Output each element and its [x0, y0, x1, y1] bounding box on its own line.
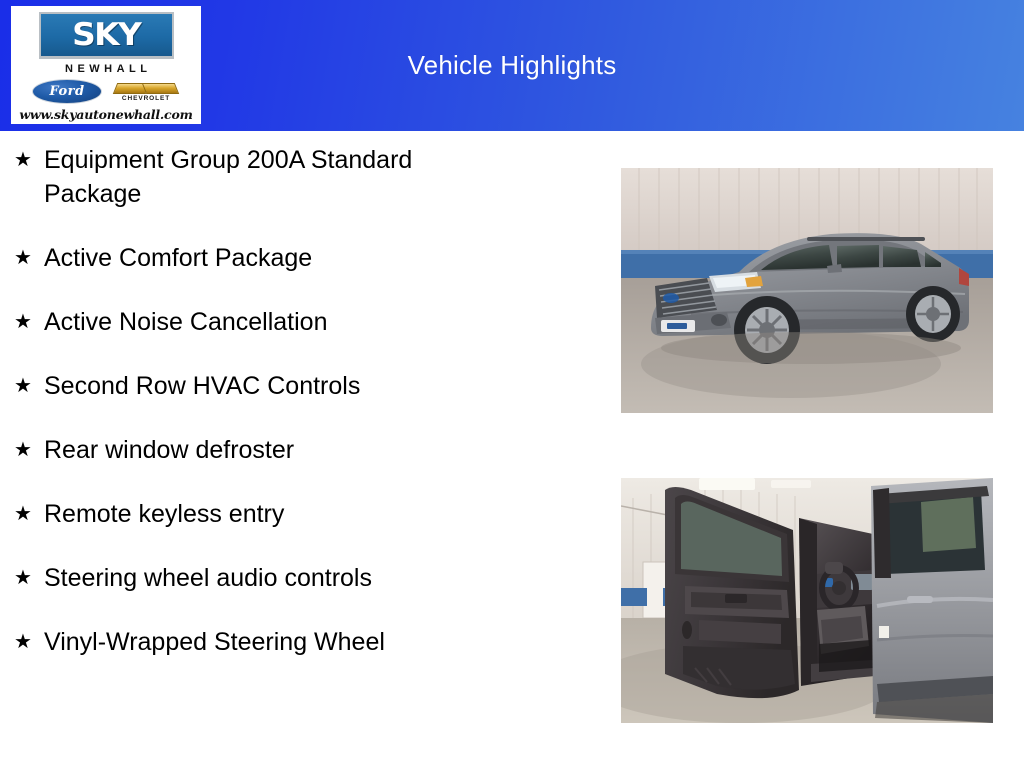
ford-logo-text: Ford — [49, 85, 84, 98]
list-item: ★ Active Noise Cancellation — [0, 305, 600, 339]
dealer-logo[interactable]: SKY NEWHALL Ford CHEVROLET www.skyautone… — [11, 6, 201, 124]
ford-logo-icon: Ford — [32, 79, 102, 104]
star-icon: ★ — [14, 561, 44, 595]
vehicle-exterior-photo[interactable] — [621, 168, 993, 413]
list-item: ★ Vinyl-Wrapped Steering Wheel — [0, 625, 600, 659]
dealer-location-text: NEWHALL — [61, 63, 152, 75]
list-item-label: Active Noise Cancellation — [44, 305, 504, 339]
vehicle-interior-illustration — [621, 478, 993, 723]
vehicle-interior-photo[interactable] — [621, 478, 993, 723]
list-item-label: Remote keyless entry — [44, 497, 504, 531]
list-item-label: Vinyl-Wrapped Steering Wheel — [44, 625, 504, 659]
list-item: ★ Rear window defroster — [0, 433, 600, 467]
star-icon: ★ — [14, 433, 44, 467]
list-item: ★ Steering wheel audio controls — [0, 561, 600, 595]
list-item: ★ Active Comfort Package — [0, 241, 600, 275]
list-item-label: Equipment Group 200A Standard Package — [44, 143, 504, 211]
list-item-label: Active Comfort Package — [44, 241, 504, 275]
list-item: ★ Equipment Group 200A Standard Package — [0, 143, 600, 211]
star-icon: ★ — [14, 497, 44, 531]
chevrolet-logo-icon: CHEVROLET — [112, 80, 180, 102]
slide-root: Vehicle Highlights SKY NEWHALL Ford CHEV… — [0, 0, 1024, 768]
vehicle-exterior-illustration — [621, 168, 993, 413]
dealer-website-text: www.skyautonewhall.com — [19, 107, 192, 122]
star-icon: ★ — [14, 143, 44, 177]
list-item-label: Steering wheel audio controls — [44, 561, 504, 595]
chevrolet-logo-text: CHEVROLET — [122, 95, 170, 102]
list-item-label: Rear window defroster — [44, 433, 504, 467]
highlights-list: ★ Equipment Group 200A Standard Package … — [0, 143, 600, 689]
star-icon: ★ — [14, 241, 44, 275]
sky-logo-box: SKY — [39, 12, 174, 59]
star-icon: ★ — [14, 369, 44, 403]
star-icon: ★ — [14, 305, 44, 339]
list-item: ★ Remote keyless entry — [0, 497, 600, 531]
star-icon: ★ — [14, 625, 44, 659]
list-item-label: Second Row HVAC Controls — [44, 369, 504, 403]
sky-brand-text: SKY — [72, 20, 140, 51]
chevrolet-bowtie-icon — [115, 80, 177, 95]
list-item: ★ Second Row HVAC Controls — [0, 369, 600, 403]
franchise-badges: Ford CHEVROLET — [11, 78, 201, 104]
